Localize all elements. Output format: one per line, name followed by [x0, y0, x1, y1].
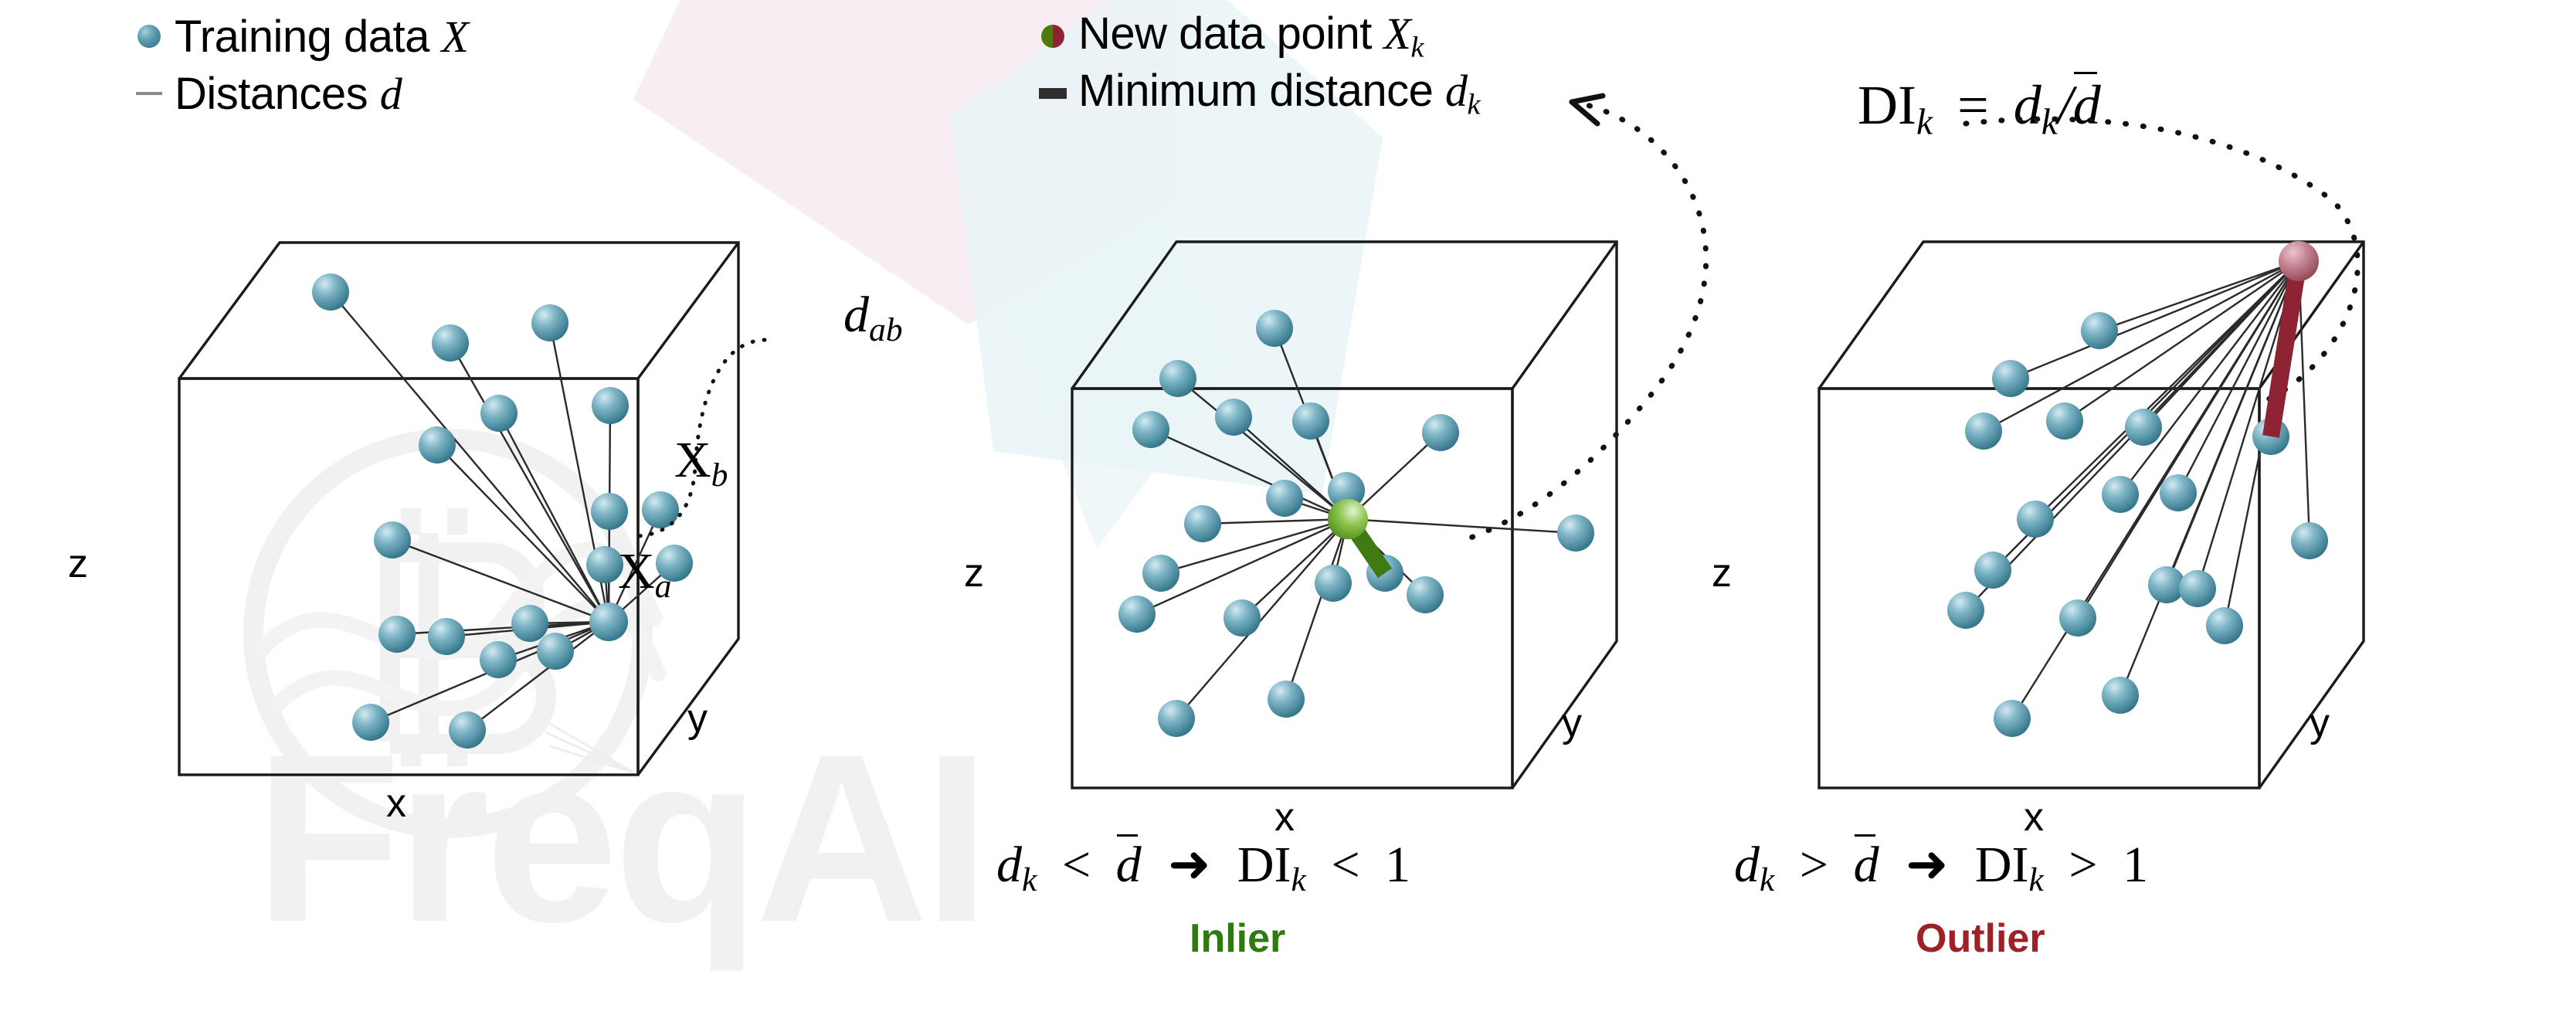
training-data-points — [1947, 312, 2328, 737]
data-point — [2102, 476, 2139, 513]
caption-inlier: Inlier — [1190, 915, 1285, 962]
data-point — [1965, 413, 2002, 450]
data-point — [2291, 522, 2328, 559]
data-point — [1994, 700, 2031, 737]
data-point — [2102, 677, 2139, 714]
formula-inlier-condition: dk < d ➜ DIk < 1 — [996, 834, 1410, 899]
panel-outlier-cube — [0, 0, 2576, 865]
new-data-point-outlier — [2279, 241, 2319, 281]
data-point — [1974, 552, 2011, 589]
data-point — [2017, 501, 2054, 538]
data-point — [2046, 402, 2083, 440]
formula-outlier-condition: dk > d ➜ DIk > 1 — [1734, 834, 2148, 899]
data-point — [2125, 409, 2162, 446]
data-point — [2206, 607, 2243, 644]
data-point — [2160, 474, 2197, 511]
caption-outlier: Outlier — [1916, 915, 2045, 962]
data-point — [2081, 312, 2118, 349]
data-point — [1992, 360, 2029, 397]
axis-label-x-panel3: x — [2024, 794, 2044, 840]
data-point — [1947, 592, 1984, 629]
diagram-canvas: FreqAI Training data X Distances d New d… — [0, 0, 2576, 1022]
axis-label-z-panel3: z — [1712, 550, 1732, 596]
data-point — [2059, 599, 2096, 637]
axis-label-y-panel3: y — [2310, 700, 2330, 746]
data-point — [2179, 570, 2216, 607]
